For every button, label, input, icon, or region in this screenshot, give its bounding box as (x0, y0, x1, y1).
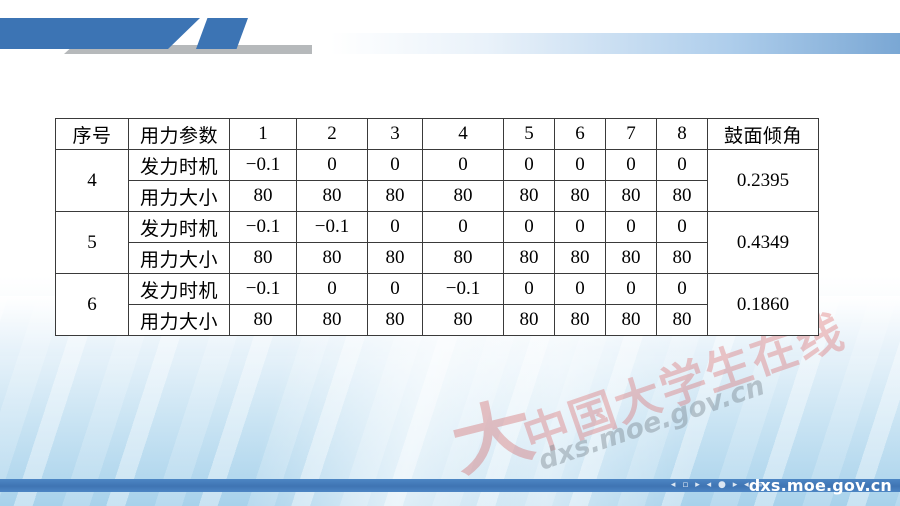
cell-timing-4-2: 0 (297, 150, 368, 181)
cell-timing-5-4: 0 (423, 212, 504, 243)
cell-timing-6-6: 0 (555, 274, 606, 305)
cell-magnitude-4-3: 80 (368, 181, 423, 212)
cell-magnitude-4-7: 80 (606, 181, 657, 212)
row-label-magnitude-5: 用力大小 (129, 243, 230, 274)
cell-timing-6-5: 0 (504, 274, 555, 305)
cell-magnitude-6-1: 80 (230, 305, 297, 336)
header-col-4: 4 (423, 119, 504, 150)
row-index-4: 4 (56, 150, 129, 212)
cell-magnitude-6-8: 80 (657, 305, 708, 336)
cell-timing-6-1: −0.1 (230, 274, 297, 305)
row-index-6: 6 (56, 274, 129, 336)
cell-magnitude-4-5: 80 (504, 181, 555, 212)
cell-magnitude-4-4: 80 (423, 181, 504, 212)
row-label-magnitude-4: 用力大小 (129, 181, 230, 212)
header-gradient-bar (330, 33, 900, 54)
row-label-timing-4: 发力时机 (129, 150, 230, 181)
table-row: 用力大小 80 80 80 80 80 80 80 80 (56, 181, 819, 212)
header-col-8: 8 (657, 119, 708, 150)
cell-magnitude-4-6: 80 (555, 181, 606, 212)
table-row: 用力大小 80 80 80 80 80 80 80 80 (56, 243, 819, 274)
row-label-magnitude-6: 用力大小 (129, 305, 230, 336)
cell-timing-4-1: −0.1 (230, 150, 297, 181)
cell-angle-4: 0.2395 (708, 150, 819, 212)
table-row: 4 发力时机 −0.1 0 0 0 0 0 0 0 0.2395 (56, 150, 819, 181)
header-col-3: 3 (368, 119, 423, 150)
cell-magnitude-4-8: 80 (657, 181, 708, 212)
cell-magnitude-6-2: 80 (297, 305, 368, 336)
cell-timing-4-5: 0 (504, 150, 555, 181)
cell-magnitude-4-2: 80 (297, 181, 368, 212)
header-col-7: 7 (606, 119, 657, 150)
header-col-5: 5 (504, 119, 555, 150)
cell-magnitude-5-3: 80 (368, 243, 423, 274)
force-parameter-table: 序号 用力参数 1 2 3 4 5 6 7 8 鼓面倾角 4 发力时机 −0.1 (55, 118, 819, 336)
cell-timing-4-7: 0 (606, 150, 657, 181)
cell-timing-5-7: 0 (606, 212, 657, 243)
cell-magnitude-6-6: 80 (555, 305, 606, 336)
header-col-1: 1 (230, 119, 297, 150)
table-row: 5 发力时机 −0.1 −0.1 0 0 0 0 0 0 0.4349 (56, 212, 819, 243)
header-col-2: 2 (297, 119, 368, 150)
cell-timing-5-2: −0.1 (297, 212, 368, 243)
header-blue-parallelogram-large (0, 18, 200, 49)
table-row: 用力大小 80 80 80 80 80 80 80 80 (56, 305, 819, 336)
cell-magnitude-5-1: 80 (230, 243, 297, 274)
footer-url: dxs.moe.gov.cn (749, 477, 892, 494)
cell-magnitude-6-4: 80 (423, 305, 504, 336)
header-drum-tilt-angle: 鼓面倾角 (708, 119, 819, 150)
cell-magnitude-5-7: 80 (606, 243, 657, 274)
table-row: 6 发力时机 −0.1 0 0 −0.1 0 0 0 0 0.1860 (56, 274, 819, 305)
header-index: 序号 (56, 119, 129, 150)
cell-magnitude-6-5: 80 (504, 305, 555, 336)
row-index-5: 5 (56, 212, 129, 274)
header-col-6: 6 (555, 119, 606, 150)
table-header-row: 序号 用力参数 1 2 3 4 5 6 7 8 鼓面倾角 (56, 119, 819, 150)
row-label-timing-5: 发力时机 (129, 212, 230, 243)
cell-magnitude-6-7: 80 (606, 305, 657, 336)
slide-canvas: 大 中国大学生在线 dxs.moe.gov.cn 序号 用力参数 1 2 3 4… (0, 0, 900, 506)
cell-magnitude-5-4: 80 (423, 243, 504, 274)
cell-timing-6-4: −0.1 (423, 274, 504, 305)
cell-timing-4-3: 0 (368, 150, 423, 181)
cell-timing-4-6: 0 (555, 150, 606, 181)
cell-timing-6-8: 0 (657, 274, 708, 305)
row-label-timing-6: 发力时机 (129, 274, 230, 305)
cell-angle-6: 0.1860 (708, 274, 819, 336)
cell-timing-6-3: 0 (368, 274, 423, 305)
cell-angle-5: 0.4349 (708, 212, 819, 274)
header-blue-parallelogram-small (196, 18, 248, 49)
cell-timing-5-8: 0 (657, 212, 708, 243)
cell-magnitude-5-8: 80 (657, 243, 708, 274)
cell-timing-5-5: 0 (504, 212, 555, 243)
cell-magnitude-5-2: 80 (297, 243, 368, 274)
cell-magnitude-5-5: 80 (504, 243, 555, 274)
cell-magnitude-5-6: 80 (555, 243, 606, 274)
force-parameter-table-wrapper: 序号 用力参数 1 2 3 4 5 6 7 8 鼓面倾角 4 发力时机 −0.1 (55, 118, 819, 336)
cell-magnitude-6-3: 80 (368, 305, 423, 336)
header-parameter: 用力参数 (129, 119, 230, 150)
cell-timing-5-1: −0.1 (230, 212, 297, 243)
cell-timing-5-3: 0 (368, 212, 423, 243)
cell-timing-6-7: 0 (606, 274, 657, 305)
cell-timing-4-8: 0 (657, 150, 708, 181)
cell-timing-4-4: 0 (423, 150, 504, 181)
cell-magnitude-4-1: 80 (230, 181, 297, 212)
cell-timing-6-2: 0 (297, 274, 368, 305)
cell-timing-5-6: 0 (555, 212, 606, 243)
